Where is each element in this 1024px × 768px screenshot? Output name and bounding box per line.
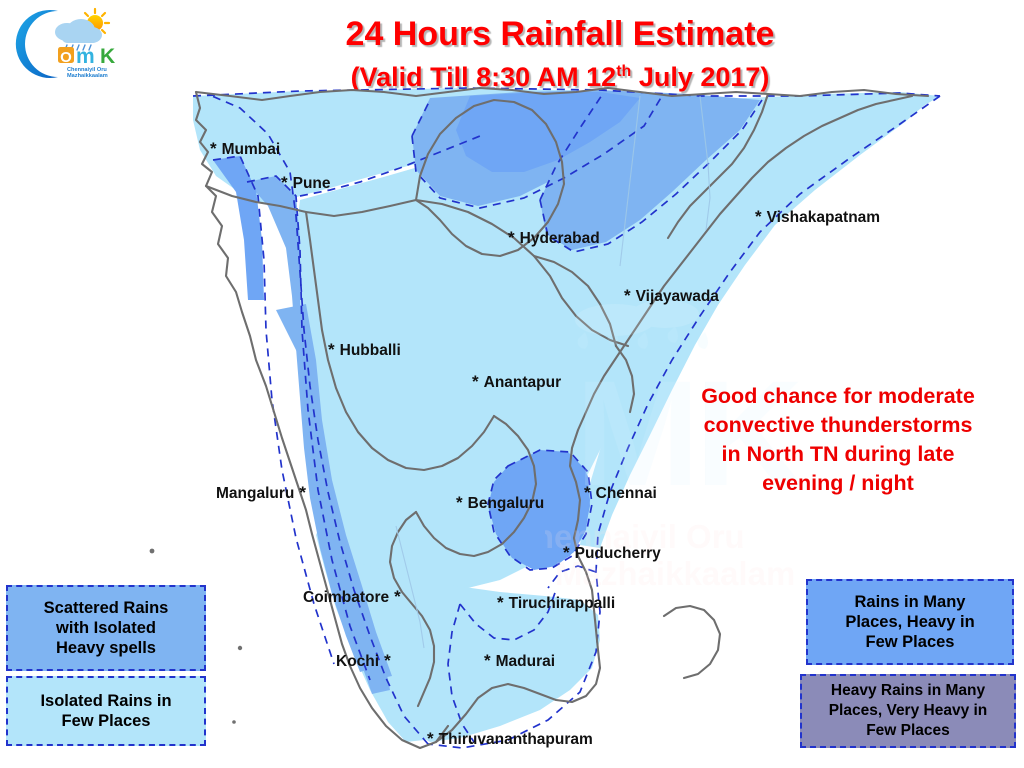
city-name: Bengaluru <box>468 495 545 512</box>
legend-scattered-line-3: Heavy spells <box>44 638 169 658</box>
city-name: Vishakapatnam <box>767 209 880 226</box>
city-label-madurai: *Madurai <box>484 652 555 670</box>
city-label-hubballi: *Hubballi <box>328 341 401 359</box>
city-name: Mangaluru <box>216 485 294 502</box>
city-label-thiruvananthapuram: *Thiruvananthapuram <box>427 730 593 748</box>
legend-scattered-line-1: Scattered Rains <box>44 598 169 618</box>
city-marker-icon: * <box>456 493 463 512</box>
city-label-coimbatore: Coimbatore* <box>303 588 401 606</box>
city-name: Thiruvananthapuram <box>439 731 593 748</box>
annotation-line-1: Good chance for moderate <box>668 382 1008 411</box>
city-label-kochi: Kochi* <box>336 652 391 670</box>
city-marker-icon: * <box>472 372 479 391</box>
city-marker-icon: * <box>328 340 335 359</box>
legend-heavy-line-1: Heavy Rains in Many <box>829 681 988 701</box>
city-name: Kochi <box>336 653 379 670</box>
city-name: Puducherry <box>575 545 661 562</box>
city-label-bengaluru: *Bengaluru <box>456 494 544 512</box>
city-marker-icon: * <box>281 173 288 192</box>
city-marker-icon: * <box>427 729 434 748</box>
city-marker-icon: * <box>384 651 391 670</box>
legend-rains-many-places[interactable]: Rains in Many Places, Heavy in Few Place… <box>806 579 1014 665</box>
city-label-mumbai: *Mumbai <box>210 140 280 158</box>
city-label-hyderabad: *Hyderabad <box>508 229 600 247</box>
city-name: Tiruchirappalli <box>509 595 616 612</box>
rainfall-map-page: O m K Chennaiyil Oru Mazhaikkaalam 24 Ho… <box>0 0 1024 768</box>
city-name: Chennai <box>596 485 657 502</box>
city-marker-icon: * <box>755 207 762 226</box>
legend-scattered-rains[interactable]: Scattered Rains with Isolated Heavy spel… <box>6 585 206 671</box>
city-name: Mumbai <box>222 141 281 158</box>
city-label-chennai: *Chennai <box>584 484 657 502</box>
city-marker-icon: * <box>563 543 570 562</box>
city-name: Hyderabad <box>520 230 600 247</box>
legend-heavy-line-2: Places, Very Heavy in <box>829 701 988 721</box>
annotation-line-4: evening / night <box>668 469 1008 498</box>
city-marker-icon: * <box>624 286 631 305</box>
city-name: Coimbatore <box>303 589 389 606</box>
forecast-annotation: Good chance for moderate convective thun… <box>668 382 1008 498</box>
annotation-line-2: convective thunderstorms <box>668 411 1008 440</box>
legend-many-line-2: Places, Heavy in <box>845 612 974 632</box>
city-label-mangaluru: Mangaluru* <box>216 484 306 502</box>
city-marker-icon: * <box>210 139 217 158</box>
city-label-tiruchirappalli: *Tiruchirappalli <box>497 594 615 612</box>
city-label-vijayawada: *Vijayawada <box>624 287 719 305</box>
city-marker-icon: * <box>484 651 491 670</box>
city-label-vishakapatnam: *Vishakapatnam <box>755 208 880 226</box>
legend-heavy-line-3: Few Places <box>829 721 988 741</box>
city-name: Anantapur <box>484 374 562 391</box>
city-name: Vijayawada <box>636 288 719 305</box>
city-label-anantapur: *Anantapur <box>472 373 561 391</box>
city-marker-icon: * <box>584 483 591 502</box>
city-label-pune: *Pune <box>281 174 331 192</box>
legend-heavy-rains[interactable]: Heavy Rains in Many Places, Very Heavy i… <box>800 674 1016 748</box>
city-name: Pune <box>293 175 331 192</box>
annotation-line-3: in North TN during late <box>668 440 1008 469</box>
city-marker-icon: * <box>497 593 504 612</box>
legend-many-line-1: Rains in Many <box>845 592 974 612</box>
city-name: Madurai <box>496 653 555 670</box>
legend-isolated-line-2: Few Places <box>40 711 171 731</box>
legend-many-line-3: Few Places <box>845 632 974 652</box>
city-name: Hubballi <box>340 342 401 359</box>
legend-isolated-rains[interactable]: Isolated Rains in Few Places <box>6 676 206 746</box>
city-marker-icon: * <box>299 483 306 502</box>
city-label-puducherry: *Puducherry <box>563 544 661 562</box>
legend-scattered-line-2: with Isolated <box>44 618 169 638</box>
legend-isolated-line-1: Isolated Rains in <box>40 691 171 711</box>
city-marker-icon: * <box>508 228 515 247</box>
city-marker-icon: * <box>394 587 401 606</box>
